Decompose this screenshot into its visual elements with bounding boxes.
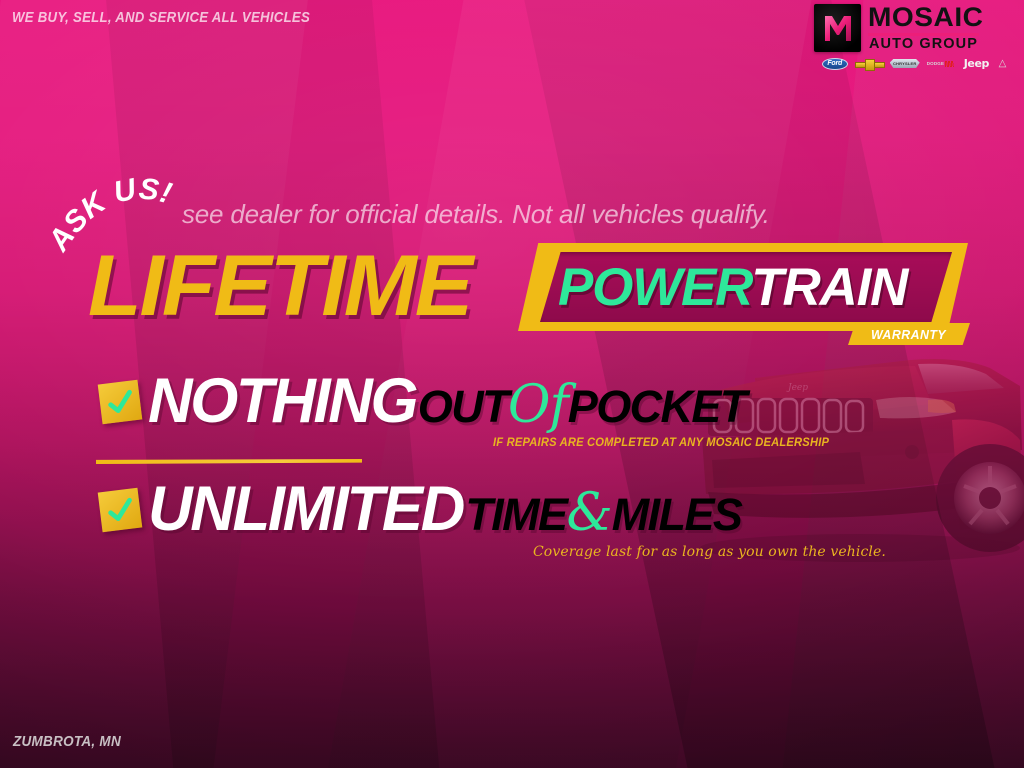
brand-strip: Ford CHRYSLER DODGE Jeep △: [814, 57, 1010, 70]
benefit-1-mid-2: POCKET: [568, 384, 746, 429]
disclaimer-text: see dealer for official details. Not all…: [182, 199, 770, 230]
headline-powertrain: POWERTRAIN: [558, 261, 907, 314]
benefit-row-nothing-out-of-pocket: NOTHING OUT Of POCKET IF REPAIRS ARE COM…: [100, 370, 840, 449]
benefit-1-sub: IF REPAIRS ARE COMPLETED AT ANY MOSAIC D…: [493, 437, 829, 449]
top-tagline: WE BUY, SELL, AND SERVICE ALL VEHICLES: [12, 9, 310, 26]
headline-power: POWER: [558, 258, 751, 317]
headline-band: LIFETIME POWERTRAIN WARRANTY: [88, 243, 968, 341]
brand-chevrolet-icon: [855, 57, 883, 70]
warranty-label: WARRANTY: [871, 327, 946, 342]
logo-subtitle: AUTO GROUP: [868, 37, 979, 52]
headline-train: TRAIN: [751, 258, 907, 317]
brand-ford-icon: Ford: [822, 57, 848, 70]
dealer-location: ZUMBROTA, MN: [13, 733, 121, 750]
benefit-1-main: NOTHING: [148, 370, 416, 433]
brand-chrysler-icon: CHRYSLER: [890, 57, 920, 70]
mosaic-m-icon: [814, 4, 861, 52]
benefit-2-sub: Coverage last for as long as you own the…: [533, 544, 886, 560]
benefit-1-script: Of: [508, 375, 568, 435]
brand-jeep-icon: Jeep: [964, 57, 989, 70]
benefit-2-main: UNLIMITED: [148, 478, 463, 541]
brand-dodge-icon: DODGE: [927, 57, 957, 70]
benefit-2-script: &: [566, 483, 611, 543]
ad-canvas: Jeep: [0, 0, 1024, 768]
headline-lifetime: LIFETIME: [88, 243, 471, 329]
logo-name: MOSAIC: [868, 5, 983, 31]
checkmark-icon: [98, 380, 143, 425]
warranty-tab: WARRANTY: [848, 323, 970, 345]
checkmark-icon: [98, 488, 143, 533]
brand-ram-icon: △: [996, 57, 1009, 70]
benefit-2-mid-1: TIME: [465, 492, 566, 537]
dealer-logo[interactable]: MOSAIC AUTO GROUP Ford CHRYSLER DODGE Je…: [814, 4, 1010, 70]
benefit-2-mid-2: MILES: [612, 492, 742, 537]
benefit-1-mid-1: OUT: [418, 384, 508, 429]
benefit-row-unlimited-time-miles: UNLIMITED TIME & MILES Coverage last for…: [100, 478, 886, 560]
